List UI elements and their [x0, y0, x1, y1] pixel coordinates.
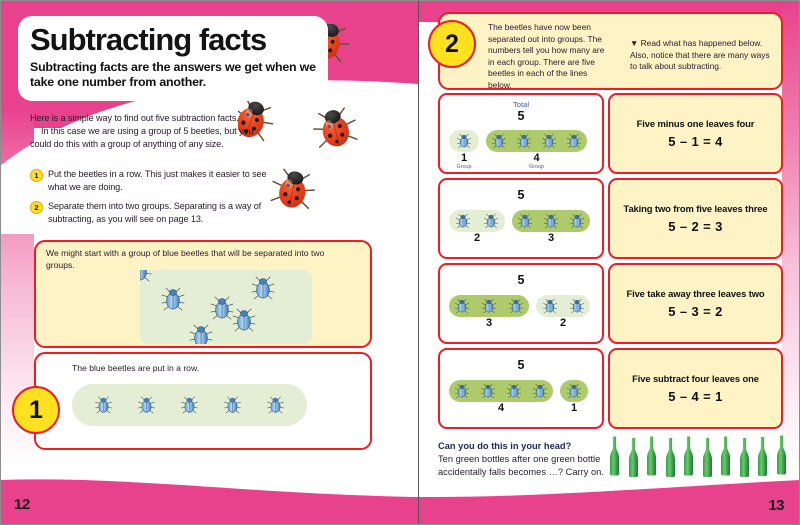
intro-text: Here is a simple way to find out five su… — [30, 112, 260, 151]
step-text: Put the beetles in a row. This just make… — [48, 168, 270, 193]
group-b-caption: Group — [486, 164, 587, 172]
book-spine — [418, 0, 419, 525]
green-beetle-icon — [569, 211, 585, 231]
beetle-row-pill — [72, 384, 307, 426]
green-beetle-icon — [542, 296, 558, 316]
group-b-label: 2 — [536, 318, 590, 329]
page-number-left: 12 — [14, 496, 30, 513]
blue-beetle-scatter — [140, 270, 312, 344]
group-a-pill — [449, 295, 529, 317]
list-item: 2 Separate them into two groups. Separat… — [30, 200, 270, 225]
page-title: Subtracting facts — [30, 24, 318, 56]
row-beetle-diagram: 5 4 — [438, 348, 604, 429]
statement-equation: 5 – 4 = 1 — [668, 389, 723, 404]
group-b-label: 1 — [560, 403, 588, 414]
row-statement: Taking two from five leaves three 5 – 2 … — [608, 178, 783, 259]
instruction-panel: The beetles have now been separated out … — [438, 12, 783, 90]
left-pink-footer-band — [0, 470, 418, 525]
green-beetle-icon — [455, 211, 471, 231]
group-a-label: 3 — [449, 318, 529, 329]
total-label: Total — [440, 100, 602, 109]
left-page: Subtracting facts Subtracting facts are … — [0, 0, 418, 525]
step1-caption: The blue beetles are put in a row. — [72, 363, 199, 373]
page-subtitle: Subtracting facts are the answers we get… — [30, 60, 318, 91]
group-a-number: 2 — [449, 233, 505, 244]
blue-beetle-icon — [94, 393, 113, 417]
list-item: 1 Put the beetles in a row. This just ma… — [30, 168, 270, 193]
numbered-steps-list: 1 Put the beetles in a row. This just ma… — [30, 168, 270, 233]
book-spread: Subtracting facts Subtracting facts are … — [0, 0, 800, 525]
green-beetle-icon — [508, 296, 524, 316]
step-text: Separate them into two groups. Separatin… — [48, 200, 270, 225]
blue-beetle-icon — [180, 393, 199, 417]
green-beetle-icon — [456, 131, 472, 151]
total-value: 5 — [440, 273, 602, 287]
group-a-label: 1 Group — [449, 153, 479, 172]
row-statement: Five minus one leaves four 5 – 1 = 4 — [608, 93, 783, 174]
green-beetle-icon — [516, 131, 532, 151]
statement-sentence: Taking two from five leaves three — [624, 203, 768, 214]
row-statement: Five take away three leaves two 5 – 3 = … — [608, 263, 783, 344]
right-pink-footer-band — [418, 470, 800, 525]
step-number-badge: 2 — [30, 201, 43, 214]
step-number-badge: 1 — [30, 169, 43, 182]
green-beetle-icon — [532, 381, 548, 401]
group-b-pill — [486, 130, 587, 152]
statement-sentence: Five minus one leaves four — [637, 118, 755, 129]
statement-sentence: Five take away three leaves two — [626, 288, 764, 299]
group-a-pill — [449, 130, 479, 152]
scatter-panel: We might start with a group of blue beet… — [34, 240, 372, 348]
green-beetle-icon — [569, 296, 585, 316]
group-a-pill — [449, 380, 553, 402]
page-number-right: 13 — [768, 497, 784, 514]
right-page: The beetles have now been separated out … — [418, 0, 800, 525]
step1-panel: The blue beetles are put in a row. — [34, 352, 372, 450]
green-beetle-icon — [517, 211, 533, 231]
total-value: 5 — [440, 358, 602, 372]
table-row: 5 2 — [438, 178, 783, 259]
group-a-caption: Group — [449, 164, 479, 172]
statement-sentence: Five subtract four leaves one — [632, 373, 759, 384]
green-beetle-icon — [566, 131, 582, 151]
intro-line-2: In this case we are using a group of 5 b… — [30, 125, 260, 151]
green-beetle-icon — [454, 381, 470, 401]
total-value: 5 — [440, 109, 602, 123]
step2-badge: 2 — [428, 20, 476, 68]
group-b-pill — [560, 380, 588, 402]
instruction-column-a: The beetles have now been separated out … — [488, 22, 608, 92]
green-beetle-icon — [483, 211, 499, 231]
group-b-number: 3 — [512, 233, 590, 244]
instruction-column-b: ▼ Read what has happened below. Also, no… — [630, 38, 770, 73]
row-statement: Five subtract four leaves one 5 – 4 = 1 — [608, 348, 783, 429]
green-beetle-icon — [480, 381, 496, 401]
row-beetle-diagram: 5 3 — [438, 263, 604, 344]
group-a-number: 4 — [449, 403, 553, 414]
group-b-number: 1 — [560, 403, 588, 414]
green-beetle-icon — [506, 381, 522, 401]
table-row: 5 3 — [438, 263, 783, 344]
green-beetle-icon — [481, 296, 497, 316]
green-beetle-icon — [491, 131, 507, 151]
statement-equation: 5 – 2 = 3 — [668, 219, 723, 234]
intro-line-1: Here is a simple way to find out five su… — [30, 112, 260, 125]
group-a-label: 4 — [449, 403, 553, 414]
green-beetle-icon — [454, 296, 470, 316]
group-b-pill — [512, 210, 590, 232]
triangle-down-icon: ▼ — [630, 38, 638, 48]
group-b-number: 2 — [536, 318, 590, 329]
group-a-pill — [449, 210, 505, 232]
group-b-label: 4 Group — [486, 153, 587, 172]
row-beetle-diagram: 5 2 — [438, 178, 604, 259]
scatter-field — [140, 270, 312, 344]
instruction-column-b-text: Read what has happened below. Also, noti… — [630, 38, 770, 71]
group-a-label: 2 — [449, 233, 505, 244]
step1-badge: 1 — [12, 386, 60, 434]
group-b-number: 4 — [486, 153, 587, 164]
table-row: Total 5 — [438, 93, 783, 174]
group-b-pill — [536, 295, 590, 317]
green-beetle-icon — [566, 381, 582, 401]
statement-equation: 5 – 1 = 4 — [668, 134, 723, 149]
group-a-number: 1 — [449, 153, 479, 164]
blue-beetle-icon — [266, 393, 285, 417]
blue-beetle-icon — [137, 393, 156, 417]
green-beetle-icon — [541, 131, 557, 151]
group-b-label: 3 — [512, 233, 590, 244]
title-card: Subtracting facts Subtracting facts are … — [18, 16, 328, 101]
green-beetle-icon — [543, 211, 559, 231]
blue-beetle-icon — [223, 393, 242, 417]
total-value: 5 — [440, 188, 602, 202]
table-row: 5 4 — [438, 348, 783, 429]
statement-equation: 5 – 3 = 2 — [668, 304, 723, 319]
subtraction-rows-grid: Total 5 — [438, 93, 783, 433]
row-beetle-diagram: Total 5 — [438, 93, 604, 174]
right-pink-edge-gradient — [782, 0, 800, 492]
group-a-number: 3 — [449, 318, 529, 329]
scatter-panel-caption: We might start with a group of blue beet… — [46, 248, 346, 272]
